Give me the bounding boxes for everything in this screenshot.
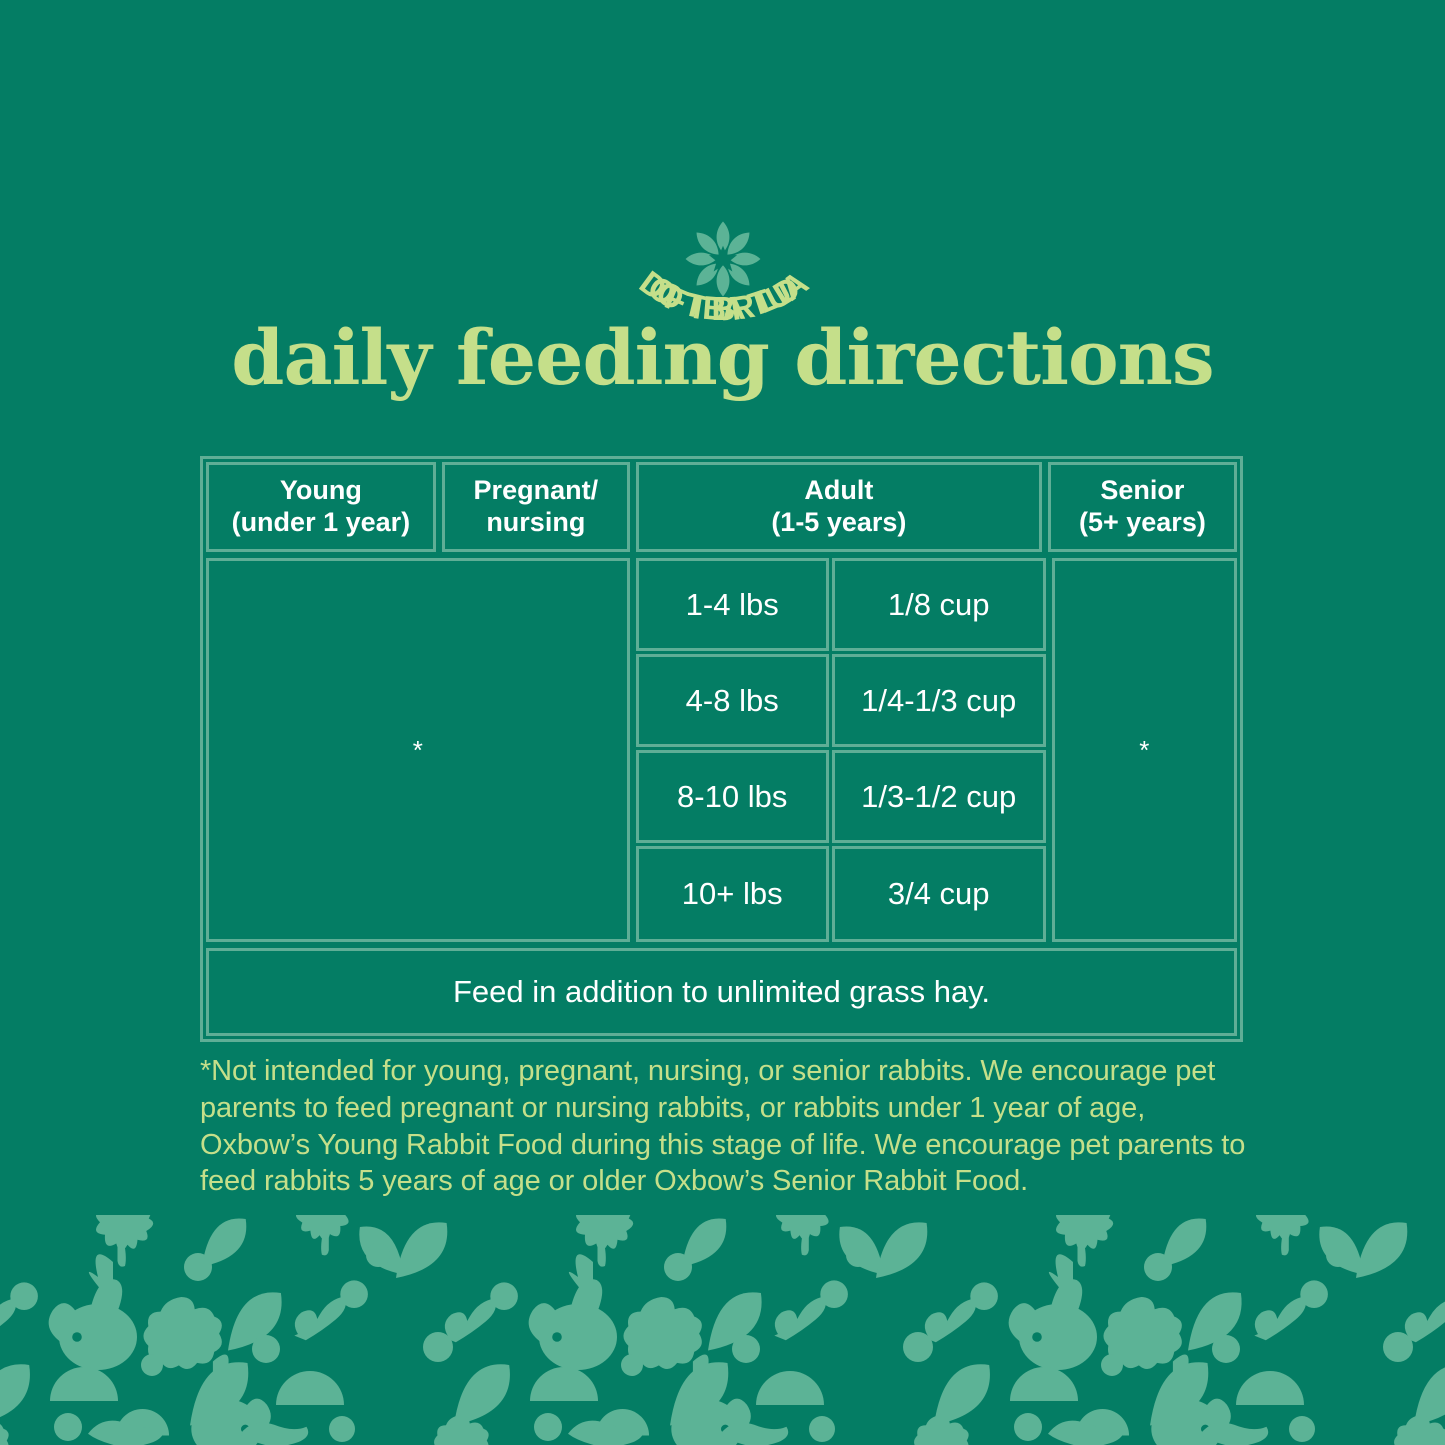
adult-weight-row: 8-10 lbs1/3-1/2 cup — [636, 750, 1046, 846]
rosette-flower-icon — [684, 220, 762, 298]
botanical-rabbit-pattern — [0, 1215, 1445, 1445]
feeding-directions-panel: ADULT RABBIT FOOD daily feeding directio… — [0, 0, 1445, 1445]
adult-rows-group: 1-4 lbs1/8 cup4-8 lbs1/4-1/3 cup8-10 lbs… — [636, 558, 1046, 942]
feeding-table: Young (under 1 year) Pregnant/ nursing A… — [200, 456, 1243, 1042]
table-footer-row: Feed in addition to unlimited grass hay. — [203, 945, 1240, 1039]
col-adult-line1: Adult — [804, 475, 873, 505]
column-header-pregnant: Pregnant/ nursing — [442, 462, 630, 552]
table-header-row: Young (under 1 year) Pregnant/ nursing A… — [203, 459, 1240, 555]
cell-adult-amount: 1/8 cup — [832, 558, 1046, 651]
adult-weight-row: 4-8 lbs1/4-1/3 cup — [636, 654, 1046, 750]
cell-adult-weight: 4-8 lbs — [636, 654, 829, 747]
adult-weight-row: 10+ lbs3/4 cup — [636, 846, 1046, 942]
cell-adult-amount: 1/3-1/2 cup — [832, 750, 1046, 843]
col-senior-line1: Senior — [1100, 475, 1184, 505]
column-header-senior: Senior (5+ years) — [1048, 462, 1237, 552]
table-footer-note: Feed in addition to unlimited grass hay. — [206, 948, 1237, 1036]
footnote-text: *Not intended for young, pregnant, nursi… — [200, 1053, 1248, 1200]
col-senior-line2: (5+ years) — [1079, 507, 1206, 537]
cell-adult-weight: 1-4 lbs — [636, 558, 829, 651]
cell-senior-value: * — [1052, 558, 1237, 942]
column-header-young: Young (under 1 year) — [206, 462, 436, 552]
col-preg-line1: Pregnant/ — [474, 475, 599, 505]
col-preg-line2: nursing — [486, 507, 585, 537]
col-adult-line2: (1-5 years) — [771, 507, 906, 537]
cell-young-pregnant-value: * — [206, 558, 630, 942]
table-body: * 1-4 lbs1/8 cup4-8 lbs1/4-1/3 cup8-10 l… — [203, 555, 1240, 945]
cell-adult-weight: 8-10 lbs — [636, 750, 829, 843]
cell-adult-amount: 1/4-1/3 cup — [832, 654, 1046, 747]
arched-eyebrow-text: ADULT RABBIT FOOD — [0, 0, 1445, 250]
page-title: daily feeding directions — [0, 320, 1445, 396]
col-young-line1: Young — [280, 475, 362, 505]
cell-adult-weight: 10+ lbs — [636, 846, 829, 942]
adult-weight-row: 1-4 lbs1/8 cup — [636, 558, 1046, 654]
column-header-adult: Adult (1-5 years) — [636, 462, 1042, 552]
col-young-line2: (under 1 year) — [232, 507, 411, 537]
cell-adult-amount: 3/4 cup — [832, 846, 1046, 942]
